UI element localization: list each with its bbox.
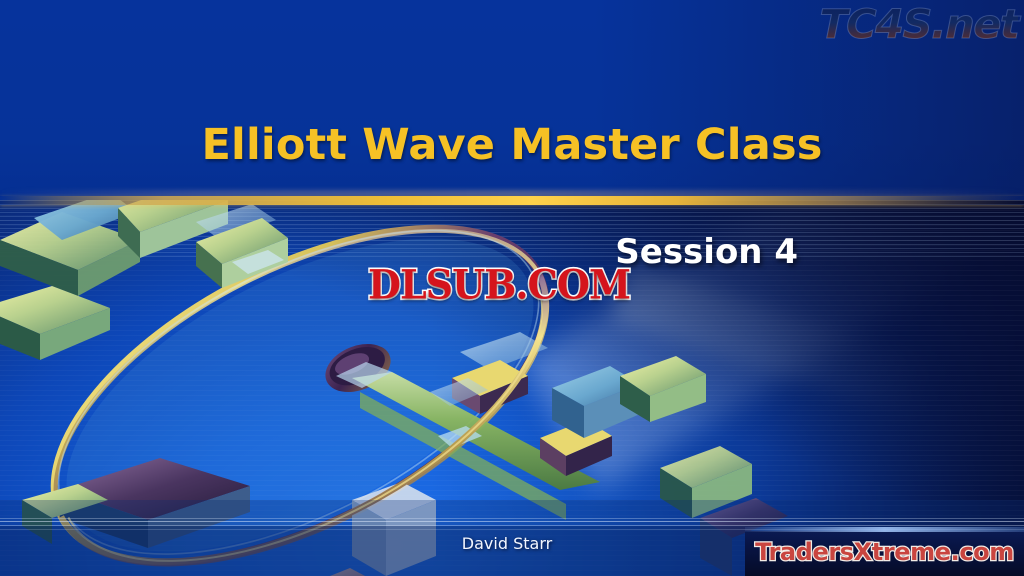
gold-divider-line: [0, 196, 1024, 205]
tradersxtreme-bar-highlight: [745, 527, 1024, 532]
dlsub-watermark: DLSUB.COM: [368, 261, 630, 308]
presentation-slide: Elliott Wave Master Class Session 4 DLSU…: [0, 0, 1024, 576]
tradersxtreme-logo: TradersXtreme.com: [745, 538, 1024, 566]
slide-title: Elliott Wave Master Class: [0, 120, 1024, 170]
artwork-slab: [0, 286, 110, 360]
tc4s-watermark: TC4S.net: [819, 2, 1018, 48]
